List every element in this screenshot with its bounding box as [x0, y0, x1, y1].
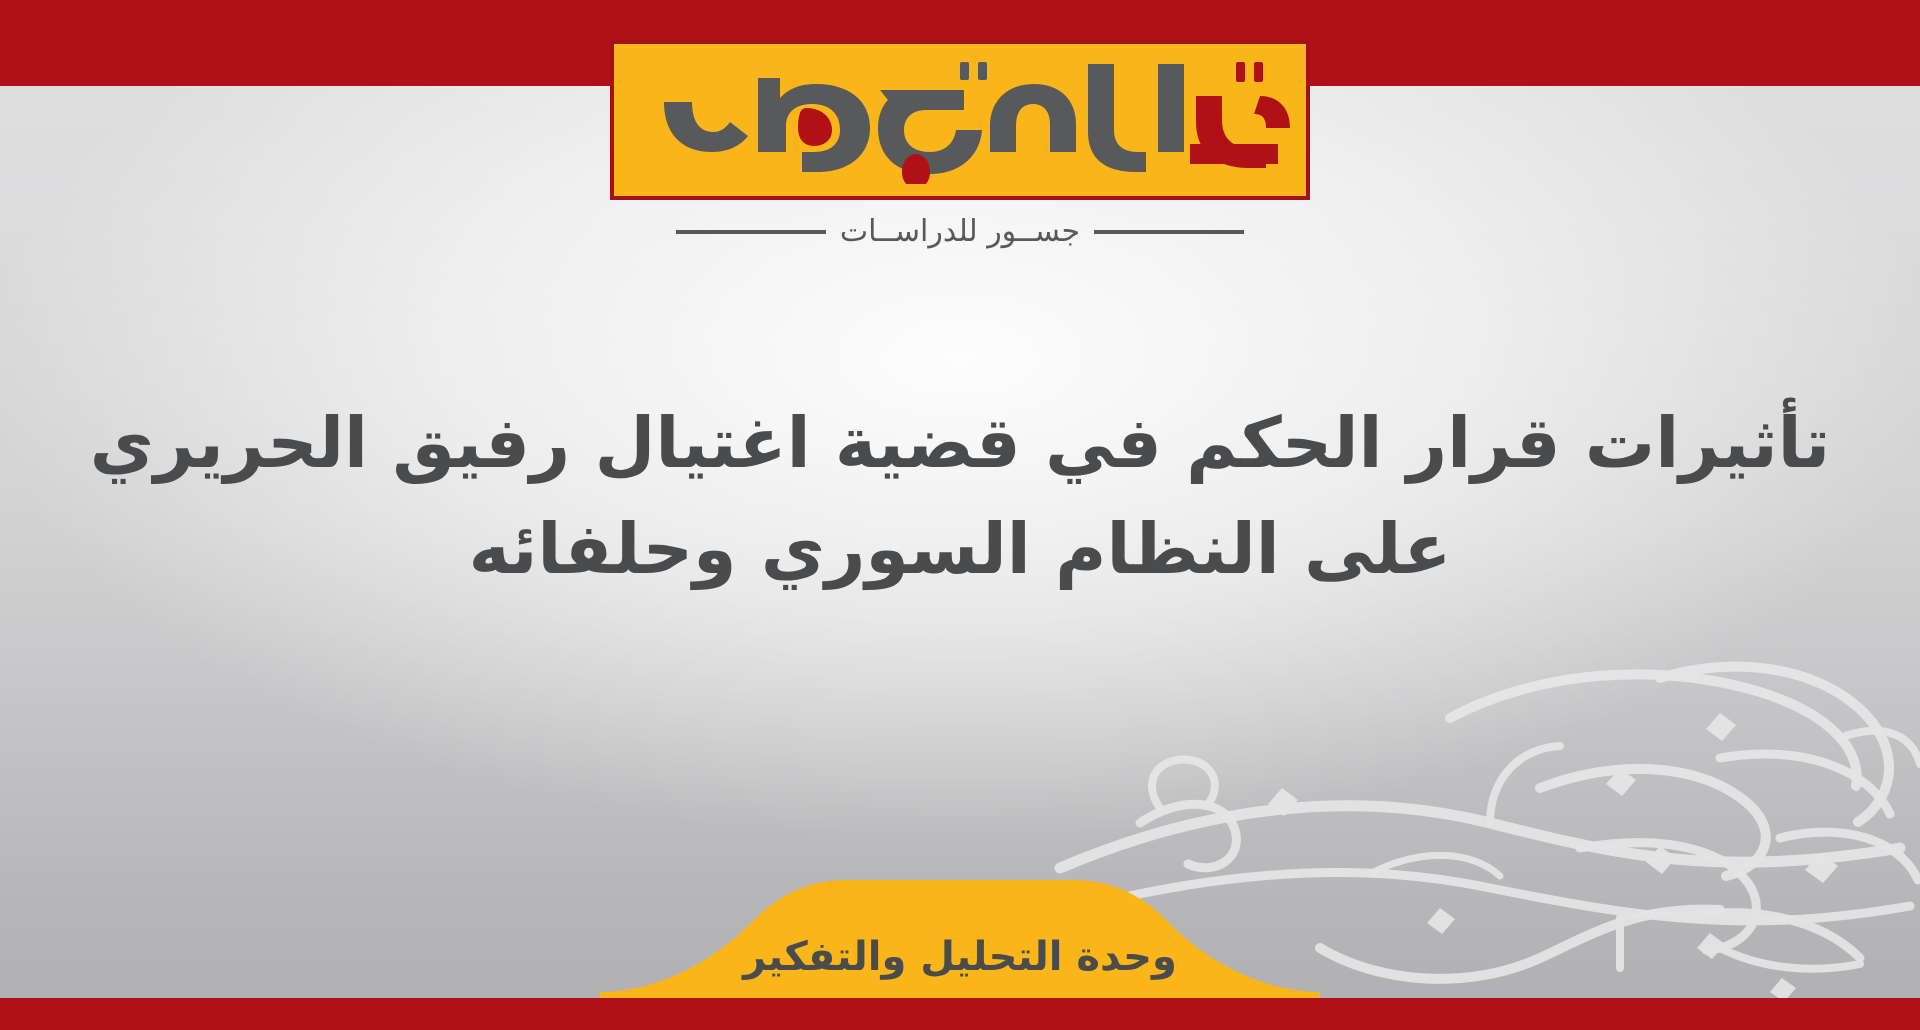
logo-wordmark-icon [630, 56, 1290, 184]
headline-line-2: على النظام السوري وحلفائه [70, 496, 1850, 602]
footer-banner-label: وحدة التحليل والتفكير [600, 934, 1320, 980]
red-bottom-bar [0, 998, 1920, 1030]
headline-line-1: تأثيرات قرار الحكم في قضية اغتيال رفيق ا… [70, 390, 1850, 496]
brand-tagline: جســور للدراســات [610, 214, 1310, 249]
logo-box [610, 40, 1310, 200]
footer-banner: وحدة التحليل والتفكير [600, 880, 1320, 998]
brand-logo-block: جســور للدراســات [610, 40, 1310, 249]
poster-canvas: تأثيرات قرار الحكم في قضية اغتيال رفيق ا… [0, 0, 1920, 1030]
tagline-rule-right [676, 230, 826, 234]
tagline-rule-left [1094, 230, 1244, 234]
headline: تأثيرات قرار الحكم في قضية اغتيال رفيق ا… [70, 390, 1850, 603]
tagline-text: جســور للدراســات [840, 214, 1080, 249]
